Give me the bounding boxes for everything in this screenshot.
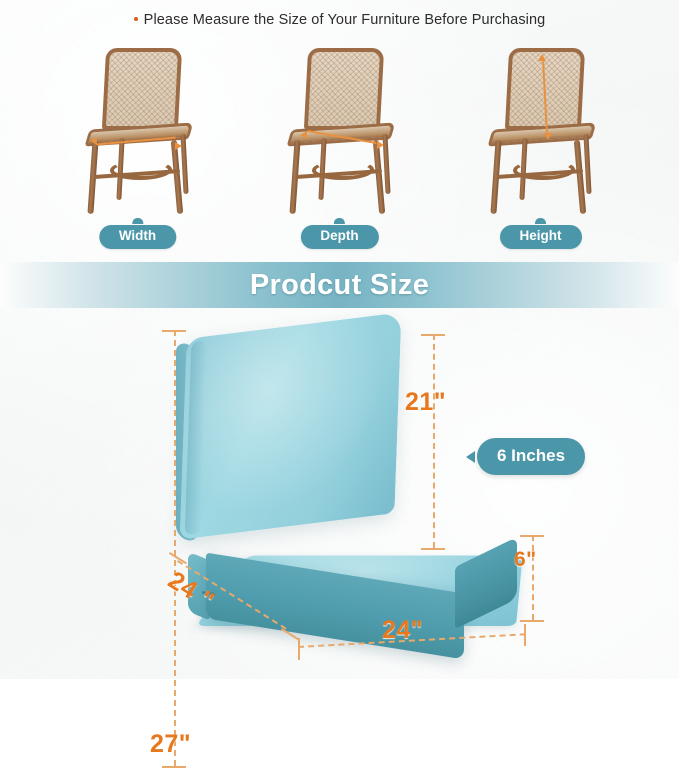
dimension-cap-top: [421, 334, 445, 336]
chair-measurement-row: Width Depth: [0, 42, 679, 247]
chair-leg-back-right: [583, 134, 591, 194]
chair-backrest: [303, 48, 383, 130]
infographic-page: Please Measure the Size of Your Furnitur…: [0, 0, 679, 679]
chair-illustration: [276, 48, 404, 218]
pill-label: Width: [99, 225, 176, 249]
arrow-left-icon: [466, 451, 475, 463]
product-scene: 27" 21" 6" 24" 24 ": [0, 308, 679, 679]
dimension-label: 24": [382, 616, 423, 645]
dimension-cap-bottom: [421, 548, 445, 550]
headline-text: Please Measure the Size of Your Furnitur…: [144, 12, 546, 28]
dimension-cap-top: [162, 330, 186, 332]
chair-illustration: [477, 48, 605, 218]
chair-label-width: Width: [99, 218, 176, 249]
dimension-label: 21": [405, 388, 446, 417]
page-headline: Please Measure the Size of Your Furnitur…: [0, 12, 679, 28]
chair-label-height: Height: [500, 218, 582, 249]
dimension-label: 27": [150, 730, 191, 759]
dimension-cap-left: [298, 638, 300, 660]
dimension-line: [433, 334, 435, 548]
dimension-label: 6": [514, 548, 537, 572]
height-arrow-icon: [537, 54, 553, 140]
width-arrow-icon: [90, 134, 182, 148]
pill-pointer-icon: [334, 218, 345, 224]
pill-pointer-icon: [132, 218, 143, 224]
dimension-cap-top: [520, 535, 544, 537]
chair-backrest: [101, 48, 181, 130]
section-banner: Prodcut Size: [0, 262, 679, 308]
dimension-line: [174, 330, 176, 766]
chair-cell-width: Width: [35, 42, 240, 217]
chair-illustration: [74, 48, 202, 218]
back-cushion: [180, 312, 402, 540]
pill-label: Height: [500, 225, 582, 249]
banner-title: Prodcut Size: [250, 269, 429, 302]
pill-label: Depth: [300, 225, 378, 249]
chair-label-depth: Depth: [300, 218, 378, 249]
chair-cell-depth: Depth: [237, 42, 442, 217]
dimension-cap-right: [524, 624, 526, 646]
thickness-badge-label: 6 Inches: [477, 438, 585, 475]
depth-arrow-icon: [300, 126, 384, 152]
dimension-cap-bottom: [520, 620, 544, 622]
thickness-callout: 6 Inches: [466, 438, 585, 475]
bullet-dot-icon: [134, 17, 138, 21]
chair-cell-height: Height: [438, 42, 643, 217]
pill-pointer-icon: [535, 218, 546, 224]
